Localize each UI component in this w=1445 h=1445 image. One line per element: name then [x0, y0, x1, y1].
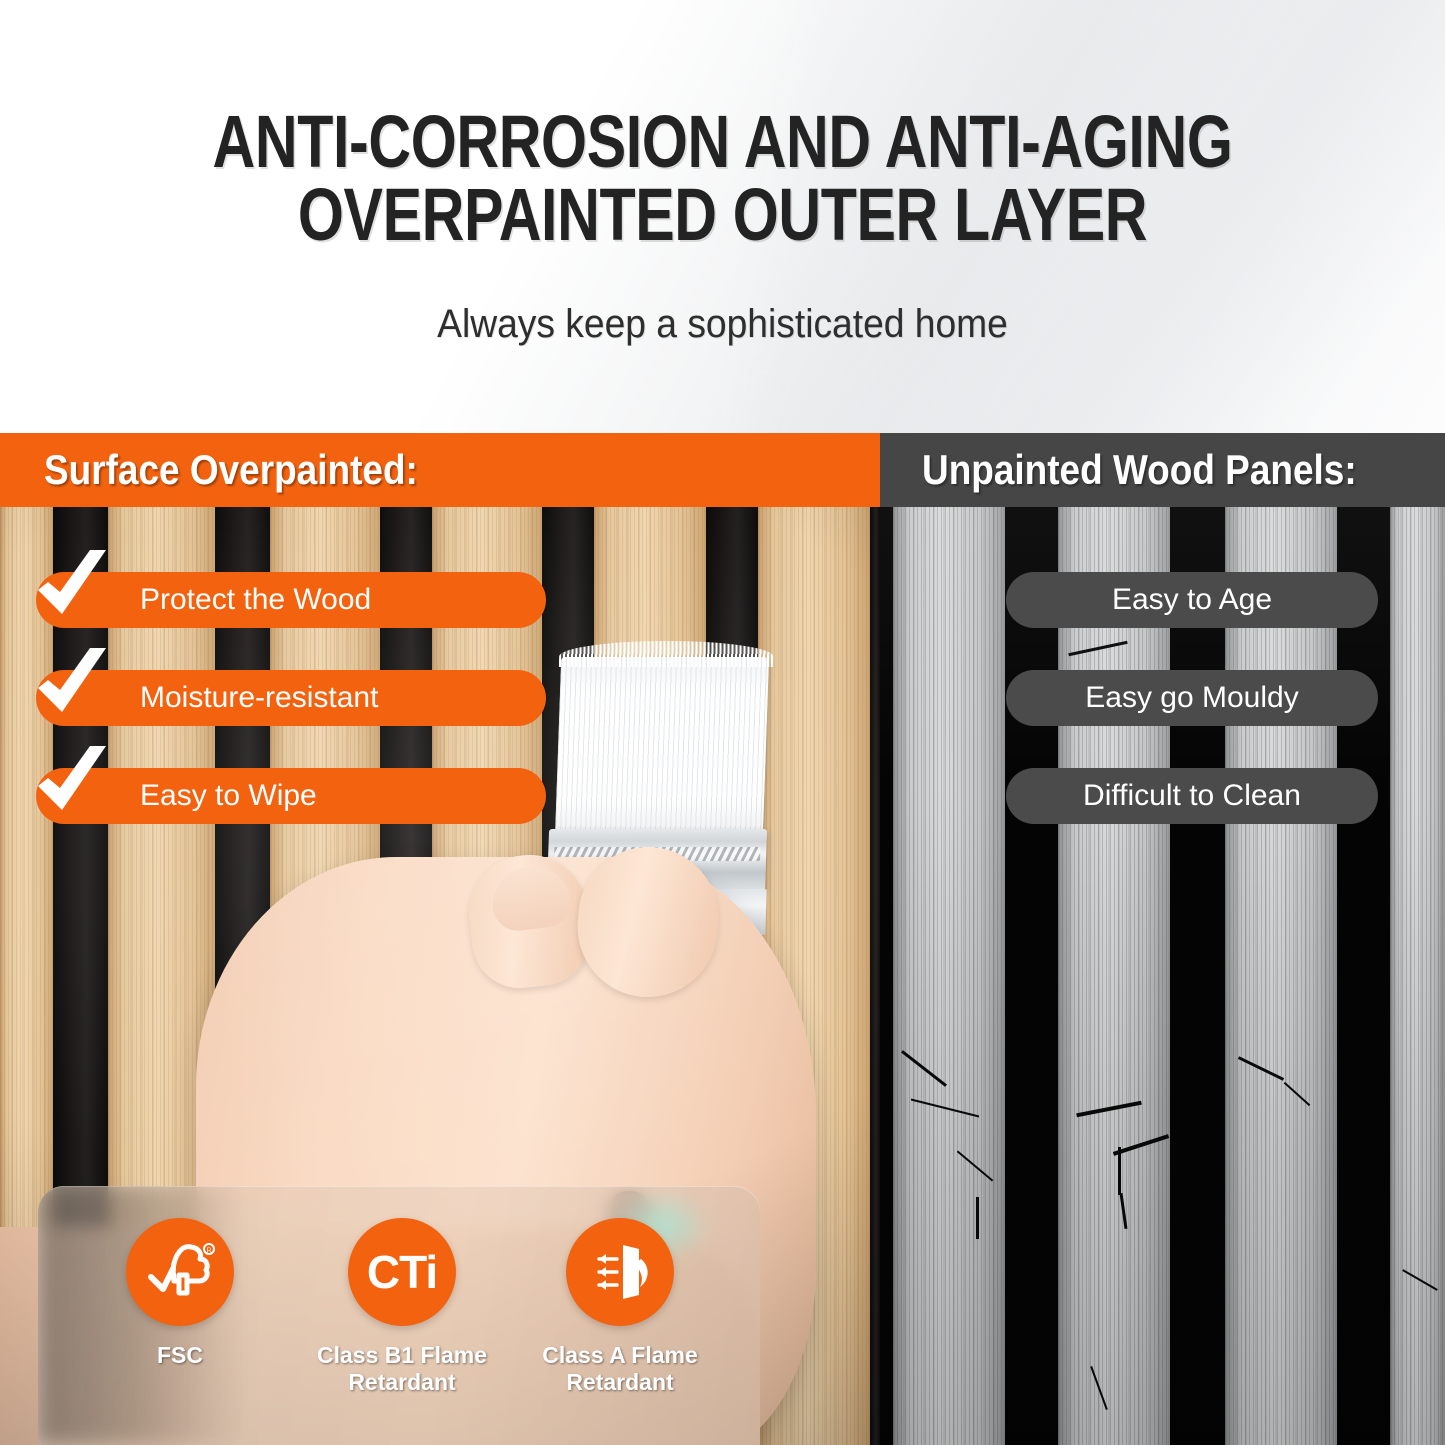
- cti-icon: CTi: [367, 1245, 437, 1299]
- drawback-pill-difficult-to-clean[interactable]: Difficult to Clean: [1006, 768, 1378, 824]
- left-column-header: Surface Overpainted:: [0, 433, 880, 507]
- unpainted-panel-photo: [880, 507, 1445, 1445]
- feature-pill-easy-to-wipe[interactable]: Easy to Wipe: [36, 768, 546, 824]
- badge-circle: R: [126, 1218, 234, 1326]
- badge-label: FSC: [157, 1342, 203, 1369]
- certification-badge-class-a-flame[interactable]: Class A Flame Retardant: [520, 1218, 720, 1396]
- feature-pill-label: Easy to Wipe: [140, 779, 317, 813]
- svg-text:R: R: [206, 1248, 211, 1255]
- fsc-tree-icon: R: [143, 1235, 217, 1309]
- drawback-pill-easy-to-age[interactable]: Easy to Age: [1006, 572, 1378, 628]
- felt-gap: [1170, 507, 1225, 1445]
- flame-panel-icon: [585, 1237, 655, 1307]
- feature-pill-label: Protect the Wood: [140, 583, 371, 617]
- felt-gap: [1337, 507, 1390, 1445]
- felt-gap: [880, 507, 893, 1445]
- drawback-pill-label: Easy go Mouldy: [1085, 681, 1298, 715]
- gray-slat: [893, 507, 1005, 1445]
- drawback-pill-easy-go-mouldy[interactable]: Easy go Mouldy: [1006, 670, 1378, 726]
- product-infographic: ANTI-CORROSION AND ANTI-AGING OVERPAINTE…: [0, 0, 1445, 1445]
- feature-pill-label: Moisture-resistant: [140, 681, 378, 715]
- crack: [1118, 1147, 1121, 1195]
- hero-section: ANTI-CORROSION AND ANTI-AGING OVERPAINTE…: [0, 0, 1445, 433]
- badge-circle: [566, 1218, 674, 1326]
- certification-badge-list: R FSC CTi Class B1 Flame Retardant: [38, 1186, 760, 1445]
- right-column-title: Unpainted Wood Panels:: [922, 446, 1357, 494]
- page-title: ANTI-CORROSION AND ANTI-AGING OVERPAINTE…: [145, 106, 1301, 251]
- right-column-header: Unpainted Wood Panels:: [880, 433, 1445, 507]
- badge-circle: CTi: [348, 1218, 456, 1326]
- feature-pill-protect-the-wood[interactable]: Protect the Wood: [36, 572, 546, 628]
- drawback-pill-label: Easy to Age: [1112, 583, 1272, 617]
- badge-label: Class A Flame Retardant: [542, 1342, 698, 1396]
- certification-badge-fsc[interactable]: R FSC: [80, 1218, 280, 1369]
- gray-slat: [1225, 507, 1337, 1445]
- felt-gap: [1005, 507, 1058, 1445]
- gray-slat: [1390, 507, 1445, 1445]
- felt-gap: [870, 507, 880, 1445]
- feature-pill-moisture-resistant[interactable]: Moisture-resistant: [36, 670, 546, 726]
- certification-badge-cti[interactable]: CTi Class B1 Flame Retardant: [302, 1218, 502, 1396]
- page-subtitle: Always keep a sophisticated home: [51, 302, 1395, 347]
- crack: [976, 1197, 979, 1239]
- drawback-pill-label: Difficult to Clean: [1083, 779, 1301, 813]
- left-column-title: Surface Overpainted:: [44, 446, 418, 494]
- certification-panel: R FSC CTi Class B1 Flame Retardant: [38, 1186, 760, 1445]
- badge-label: Class B1 Flame Retardant: [317, 1342, 487, 1396]
- oak-slat: [758, 507, 870, 1445]
- gray-slat: [1058, 507, 1170, 1445]
